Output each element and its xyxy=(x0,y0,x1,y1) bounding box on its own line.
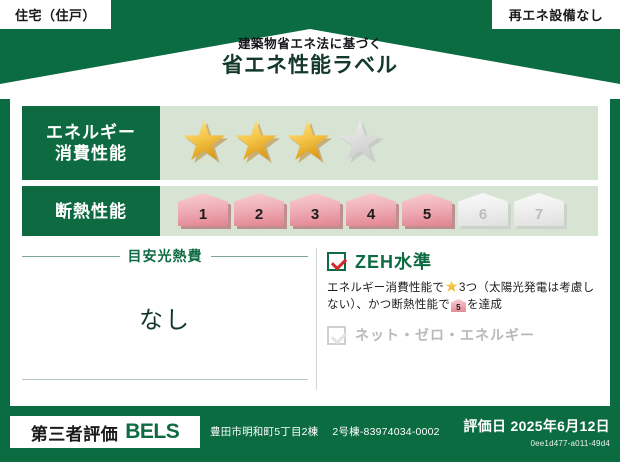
insulation-performance-row: 断熱性能 1234567 xyxy=(22,186,598,236)
bels-logo: 第三者評価 BELS xyxy=(10,416,200,448)
house-step-icon: 1 xyxy=(178,193,228,226)
house-step-icon: 6 xyxy=(458,193,508,226)
zeh-desc-part1: エネルギー消費性能で xyxy=(327,282,444,294)
energy-performance-label-line2: 消費性能 xyxy=(55,143,127,164)
insulation-step-7-off: 7 xyxy=(514,193,567,229)
insulation-step-4-on: 4 xyxy=(346,193,399,229)
nze-checkbox-icon xyxy=(327,326,346,345)
record-id: 0ee1d477-a011-49d4 xyxy=(463,439,610,448)
footer-bar: 第三者評価 BELS 豊田市明和町5丁目2棟 2号棟-83974034-0002… xyxy=(0,406,620,462)
energy-performance-label: エネルギー 消費性能 xyxy=(22,106,160,180)
footer-address-group: 豊田市明和町5丁目2棟 2号棟-83974034-0002 xyxy=(210,424,440,439)
badge-building-type: 住宅（住戸） xyxy=(0,0,113,31)
energy-star-2-on xyxy=(234,120,282,166)
house-step-icon: 3 xyxy=(290,193,340,226)
house-step-icon: 4 xyxy=(346,193,396,226)
energy-star-4-off xyxy=(338,120,386,166)
nze-status-row: ネット・ゼロ・エネルギー xyxy=(327,325,598,345)
bels-logo-en: BELS xyxy=(125,420,179,444)
inline-star-icon xyxy=(445,280,458,293)
utility-cost-value: なし xyxy=(22,300,308,335)
utility-cost-heading: 目安光熱費 xyxy=(22,246,308,266)
roof-shape xyxy=(0,29,620,99)
house-step-icon: 7 xyxy=(514,193,564,226)
insulation-step-6-off: 6 xyxy=(458,193,511,229)
insulation-step-2-on: 2 xyxy=(234,193,287,229)
evaluation-date-label: 評価日 xyxy=(463,418,506,434)
zeh-panel: ZEH水準 エネルギー消費性能で3つ（太陽光発電は考慮しない）、かつ断熱性能で5… xyxy=(327,244,598,394)
utility-cost-bottom-rule xyxy=(22,379,308,380)
insulation-step-5-on: 5 xyxy=(402,193,455,229)
energy-performance-row: エネルギー 消費性能 xyxy=(22,106,598,180)
utility-cost-panel: 目安光熱費 なし xyxy=(22,244,308,394)
label-body-panel: エネルギー 消費性能 断熱性能 1234567 目安光熱費 なし xyxy=(10,94,610,406)
house-step-icon: 5 xyxy=(402,193,452,226)
nze-label: ネット・ゼロ・エネルギー xyxy=(355,325,535,345)
lower-section: 目安光熱費 なし ZEH水準 エネルギー消費性能で3つ（太陽光発電は考慮しない）… xyxy=(22,244,598,394)
inline-house-level-icon: 5 xyxy=(451,299,466,312)
zeh-description: エネルギー消費性能で3つ（太陽光発電は考慮しない）、かつ断熱性能で5を達成 xyxy=(327,280,598,314)
bels-logo-jp: 第三者評価 xyxy=(31,420,119,445)
badge-renewable-energy: 再エネ設備なし xyxy=(490,0,620,31)
house-step-icon: 2 xyxy=(234,193,284,226)
insulation-step-3-on: 3 xyxy=(290,193,343,229)
insulation-step-1-on: 1 xyxy=(178,193,231,229)
zeh-title: ZEH水準 xyxy=(355,248,432,274)
footer-date-group: 評価日 2025年6月12日 0ee1d477-a011-49d4 xyxy=(463,416,610,448)
zeh-desc-part3: を達成 xyxy=(467,299,502,311)
rule-right xyxy=(211,256,309,257)
utility-cost-heading-text: 目安光熱費 xyxy=(128,246,203,266)
insulation-performance-label: 断熱性能 xyxy=(22,186,160,236)
rule-left xyxy=(22,256,120,257)
footer-address: 豊田市明和町5丁目2棟 xyxy=(210,424,318,439)
evaluation-date-value: 2025年6月12日 xyxy=(510,418,610,434)
evaluation-date-line: 評価日 2025年6月12日 xyxy=(463,416,610,436)
energy-star-rating xyxy=(160,106,598,180)
energy-performance-label-line1: エネルギー xyxy=(46,122,136,143)
energy-star-3-on xyxy=(286,120,334,166)
zeh-status-row: ZEH水準 xyxy=(327,248,598,274)
zeh-checkbox-icon xyxy=(327,252,346,271)
insulation-performance-label-text: 断熱性能 xyxy=(55,201,127,222)
panel-divider xyxy=(316,248,317,390)
footer-building-number: 2号棟-83974034-0002 xyxy=(332,424,439,439)
insulation-level-scale: 1234567 xyxy=(160,186,598,236)
bels-energy-label: 住宅（住戸） 再エネ設備なし 建築物省エネ法に基づく 省エネ性能ラベル エネルギ… xyxy=(0,0,620,462)
energy-star-1-on xyxy=(182,120,230,166)
